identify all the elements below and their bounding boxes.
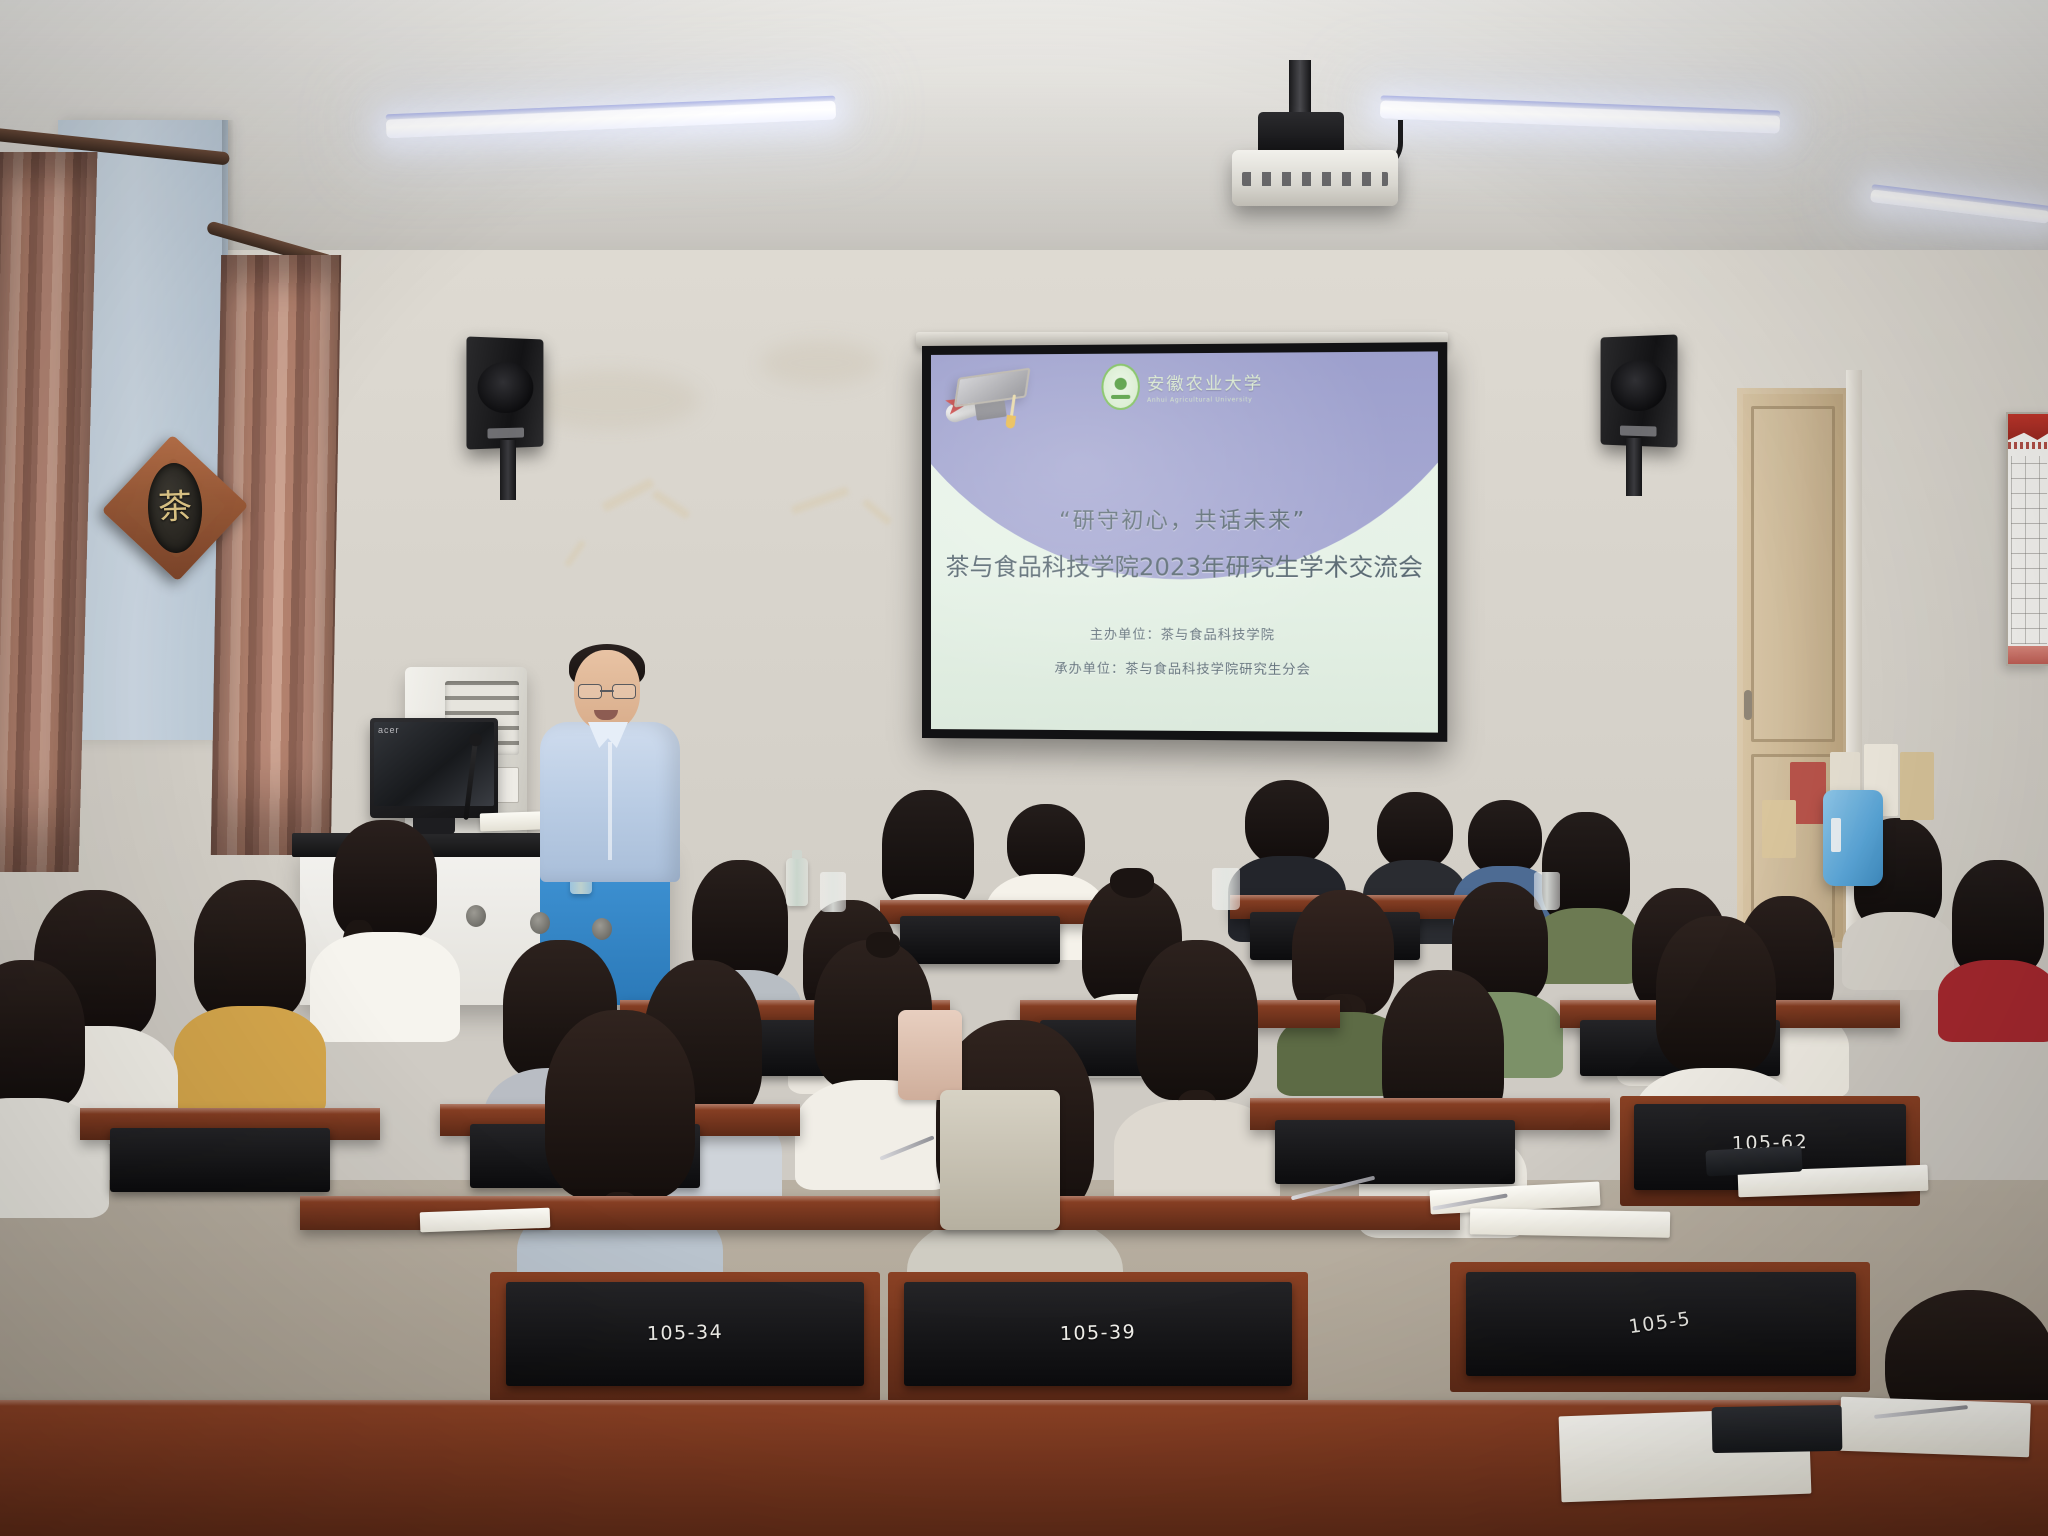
ceiling-projector xyxy=(1232,150,1398,206)
student-r3-h xyxy=(1132,940,1262,1180)
door-upper-panel xyxy=(1751,406,1835,742)
paper-stack-3 xyxy=(1470,1208,1670,1237)
head xyxy=(1007,804,1085,884)
university-emblem-icon xyxy=(1101,364,1140,411)
presenter xyxy=(540,650,680,880)
hair xyxy=(0,960,85,1110)
university-logo: 安徽农业大学 Anhui Agricultural University xyxy=(1101,363,1263,410)
classroom-photo: 茶 安徽农业大学 Anhui Agricultura xyxy=(0,0,2048,1536)
kettle-gauge xyxy=(1831,818,1841,852)
presenter-glasses-icon xyxy=(578,684,636,697)
speaker-badge xyxy=(1620,426,1657,437)
seat-row-3-a xyxy=(110,1128,330,1192)
speaker-bracket-left xyxy=(500,440,516,500)
tote-bag xyxy=(940,1090,1060,1230)
lectern-hole-3 xyxy=(592,918,612,940)
student-r3-a xyxy=(330,820,440,1020)
paper-stack-6 xyxy=(1839,1397,2031,1458)
notice-board-title xyxy=(2008,442,2048,449)
student-r3-d xyxy=(0,960,90,1190)
torso xyxy=(174,1006,326,1116)
head xyxy=(1468,800,1542,876)
projection-screen: 安徽农业大学 Anhui Agricultural University “研守… xyxy=(922,342,1447,742)
hair-bun xyxy=(1110,868,1154,898)
hair xyxy=(545,1010,695,1200)
hair xyxy=(194,880,306,1020)
university-name-cn: 安徽农业大学 xyxy=(1147,369,1263,395)
monitor-brand-label: acer xyxy=(378,725,400,735)
hair xyxy=(1656,916,1776,1072)
university-name-en: Anhui Agricultural University xyxy=(1147,396,1263,404)
handbag xyxy=(898,1010,962,1100)
cup-3 xyxy=(1534,872,1560,910)
seat-row-3-c xyxy=(1275,1120,1515,1184)
torso xyxy=(1938,960,2048,1042)
water-bottle-row2 xyxy=(786,858,808,906)
graduation-cap-icon xyxy=(945,372,1031,441)
notice-board-footer xyxy=(2008,646,2048,664)
speaker-bracket-right xyxy=(1626,438,1642,496)
hair xyxy=(882,790,974,908)
slide-host: 承办单位：茶与食品科技学院研究生分会 xyxy=(931,657,1438,679)
student-r3-b xyxy=(190,880,310,1090)
slide-organizer: 主办单位：茶与食品科技学院 xyxy=(931,623,1438,644)
notice-board-table xyxy=(2011,456,2047,644)
head xyxy=(1245,780,1329,866)
water-kettle xyxy=(1823,790,1883,886)
lectern-hole-1 xyxy=(466,905,486,927)
cup-1 xyxy=(820,872,846,912)
phone-on-desk[interactable] xyxy=(1712,1405,1843,1453)
phone-row-3[interactable] xyxy=(1705,1146,1802,1177)
speaker-badge xyxy=(487,428,524,439)
speaker-cone xyxy=(1611,360,1666,412)
notice-board-banner xyxy=(2008,414,2048,440)
computer-monitor: acer xyxy=(370,718,498,818)
presentation-slide: 安徽农业大学 Anhui Agricultural University “研守… xyxy=(931,351,1438,732)
speaker-cone xyxy=(478,362,533,414)
torso xyxy=(310,932,460,1042)
presenter-shirt-placket xyxy=(608,742,612,860)
torso xyxy=(1842,912,1954,990)
head xyxy=(1377,792,1453,870)
shelf-box-5 xyxy=(1762,800,1796,858)
wall-speaker-left xyxy=(466,336,543,449)
shelf-box-4 xyxy=(1900,752,1934,820)
student-r4-a xyxy=(540,1010,700,1310)
plaque-character: 茶 xyxy=(157,489,192,524)
slide-theme-quote: “研守初心，共话未来” xyxy=(931,502,1438,535)
wall-notice-board xyxy=(2006,412,2048,666)
hair xyxy=(1952,860,2044,976)
carved-tea-plaque: 茶 xyxy=(96,397,253,617)
projector-ports xyxy=(1242,172,1388,186)
wall-speaker-right xyxy=(1601,334,1678,447)
student-r1-h xyxy=(1950,860,2046,1020)
door-handle[interactable] xyxy=(1744,690,1752,720)
lectern-hole-2 xyxy=(530,912,550,934)
slide-main-title: 茶与食品科技学院2023年研究生学术交流会 xyxy=(931,547,1438,583)
hair-bun xyxy=(866,932,900,958)
hair xyxy=(1136,940,1258,1100)
cup-2 xyxy=(1212,868,1240,910)
